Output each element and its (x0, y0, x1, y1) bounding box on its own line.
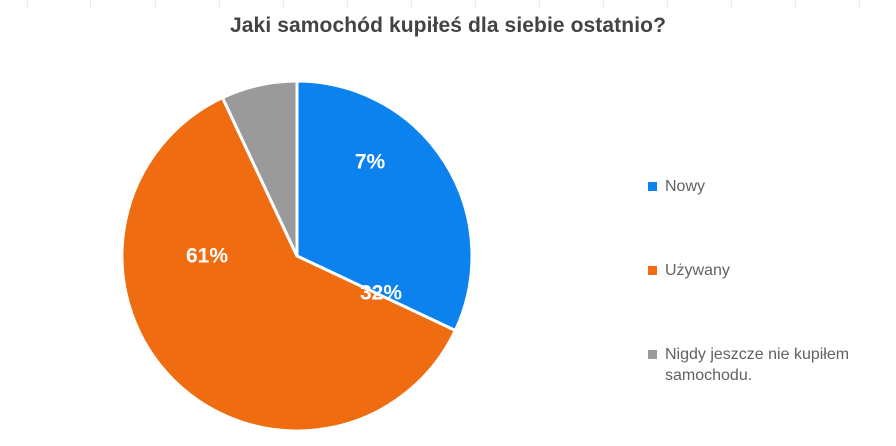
legend-item-nowy[interactable]: Nowy (648, 176, 705, 197)
legend-swatch-nigdy (648, 350, 657, 359)
slice-label-uzywany: 61% (186, 245, 228, 268)
ruler-tick (667, 0, 668, 9)
legend-swatch-uzywany (648, 266, 657, 275)
pie-plot-area: 61% 32% 7% (0, 0, 640, 446)
legend-swatch-nowy (648, 182, 657, 191)
pie-chart-figure: Jaki samochód kupiłeś dla siebie ostatni… (0, 0, 896, 446)
ruler-tick (731, 0, 732, 9)
ruler-tick (795, 0, 796, 9)
legend-item-uzywany[interactable]: Używany (648, 260, 730, 281)
pie-svg: 61% 32% 7% (0, 0, 640, 446)
ruler-tick (859, 0, 860, 9)
pie-slice-group (122, 81, 472, 431)
legend-label-nigdy: Nigdy jeszcze nie kupiłem samochodu. (665, 344, 849, 386)
slice-label-nowy: 32% (360, 282, 402, 305)
legend-label-uzywany: Używany (665, 260, 730, 281)
legend-label-nowy: Nowy (665, 176, 705, 197)
legend-item-nigdy[interactable]: Nigdy jeszcze nie kupiłem samochodu. (648, 344, 849, 386)
slice-label-nigdy: 7% (355, 151, 386, 174)
